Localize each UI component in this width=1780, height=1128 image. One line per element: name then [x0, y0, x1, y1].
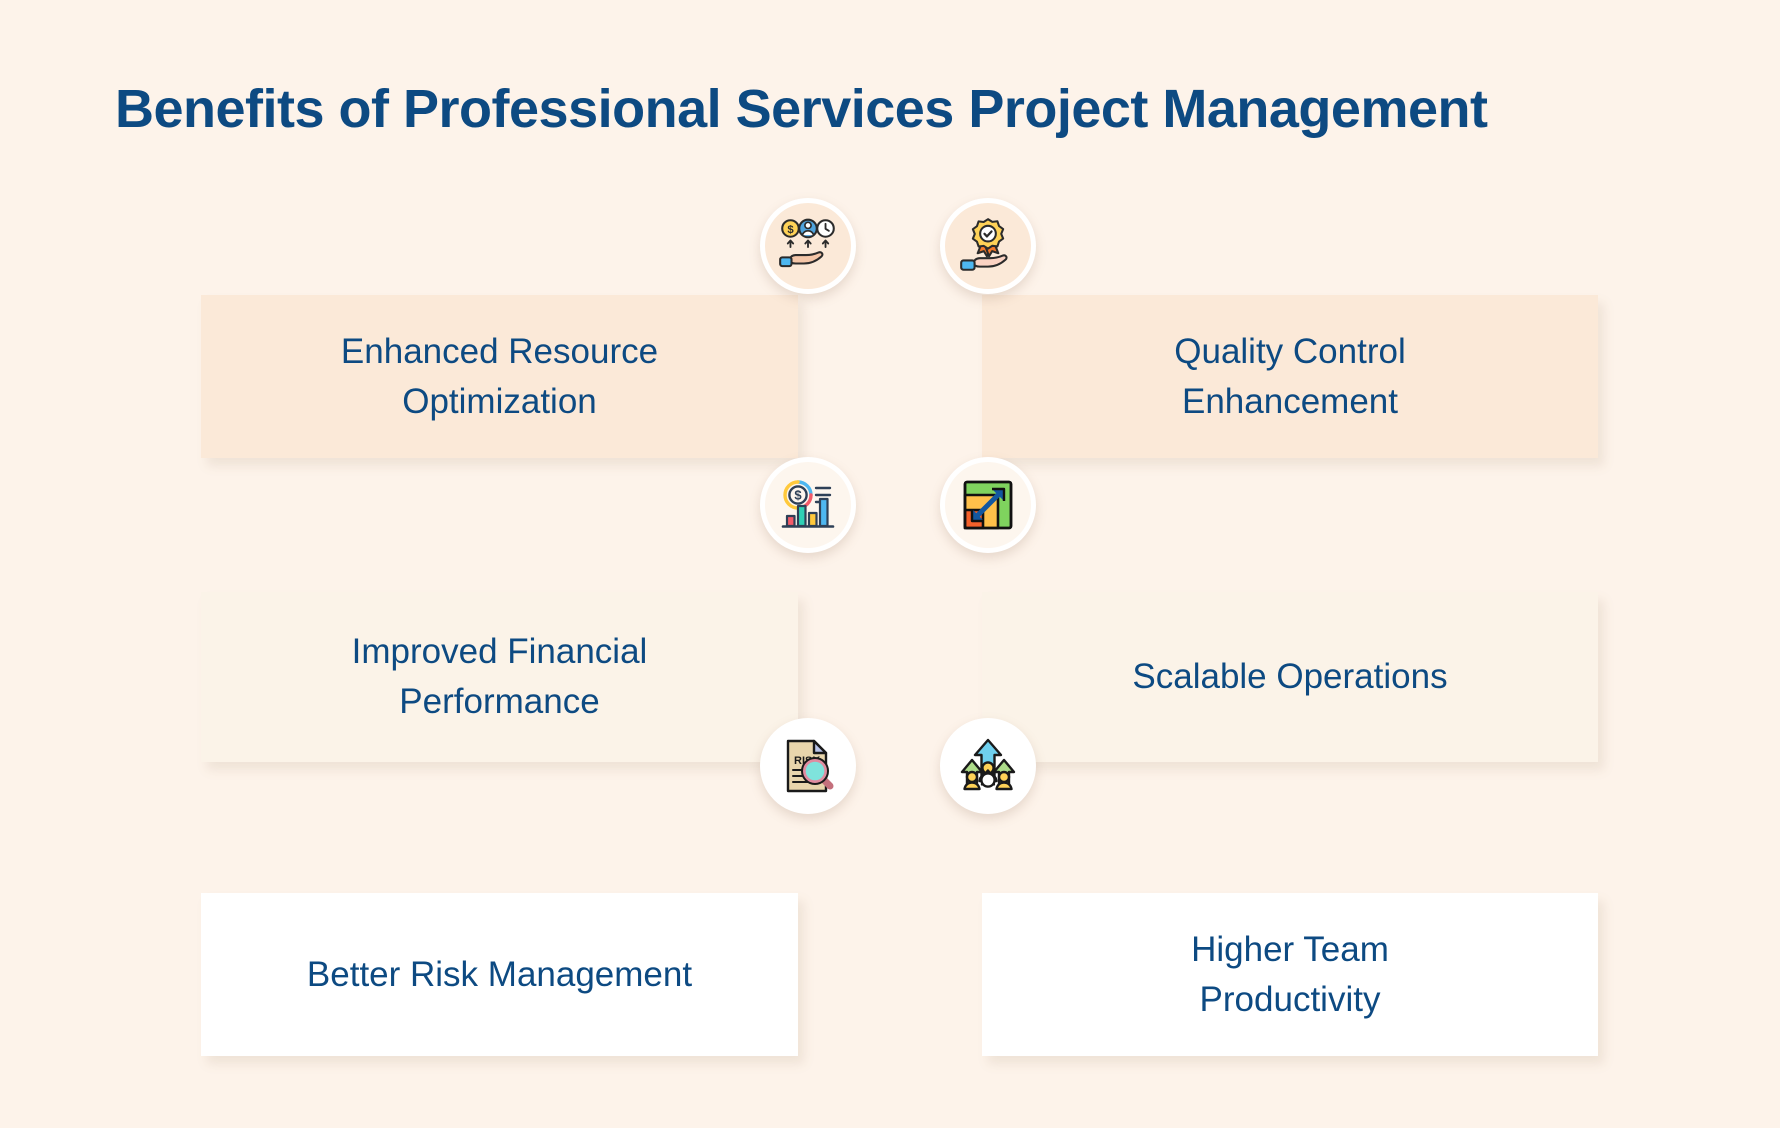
scalability-diagonal-arrow-icon	[940, 457, 1036, 553]
benefit-label-line-1: Better Risk Management	[307, 955, 692, 994]
benefit-card-label: Enhanced Resource Optimization	[341, 327, 658, 426]
team-arrows-gear-icon	[940, 718, 1036, 814]
dollar-coin-bar-chart-icon: $	[760, 457, 856, 553]
benefit-card-higher-team-productivity[interactable]: Higher Team Productivity	[982, 893, 1598, 1056]
risk-document-magnifier-icon: RISK	[760, 718, 856, 814]
benefit-card-scalable-operations[interactable]: Scalable Operations	[982, 592, 1598, 762]
benefit-card-quality-control-enhancement[interactable]: Quality Control Enhancement	[982, 295, 1598, 458]
benefit-card-label: Improved Financial Performance	[352, 627, 648, 726]
benefit-card-improved-financial-performance[interactable]: Improved Financial Performance	[201, 592, 798, 762]
svg-text:$: $	[794, 488, 802, 503]
benefit-label-line-1: Scalable Operations	[1132, 657, 1447, 696]
benefit-label-line-2: Enhancement	[1182, 382, 1398, 421]
hand-holding-coin-person-clock-icon: $	[760, 198, 856, 294]
hand-holding-award-ribbon-icon	[940, 198, 1036, 294]
benefit-label-line-1: Higher Team	[1191, 930, 1389, 969]
benefit-label-line-2: Productivity	[1200, 980, 1381, 1019]
benefit-card-label: Better Risk Management	[307, 950, 692, 1000]
benefit-card-label: Quality Control Enhancement	[1174, 327, 1405, 426]
benefit-label-line-1: Improved Financial	[352, 632, 648, 671]
benefits-grid: Enhanced Resource Optimization Quality C…	[0, 0, 1780, 1128]
benefit-card-label: Scalable Operations	[1132, 652, 1447, 702]
benefit-label-line-2: Performance	[399, 682, 599, 721]
benefit-card-label: Higher Team Productivity	[1191, 925, 1389, 1024]
benefit-label-line-1: Quality Control	[1174, 332, 1405, 371]
benefit-card-enhanced-resource-optimization[interactable]: Enhanced Resource Optimization	[201, 295, 798, 458]
benefit-label-line-2: Optimization	[402, 382, 597, 421]
benefit-label-line-1: Enhanced Resource	[341, 332, 658, 371]
svg-text:$: $	[787, 224, 794, 236]
benefit-card-better-risk-management[interactable]: Better Risk Management	[201, 893, 798, 1056]
